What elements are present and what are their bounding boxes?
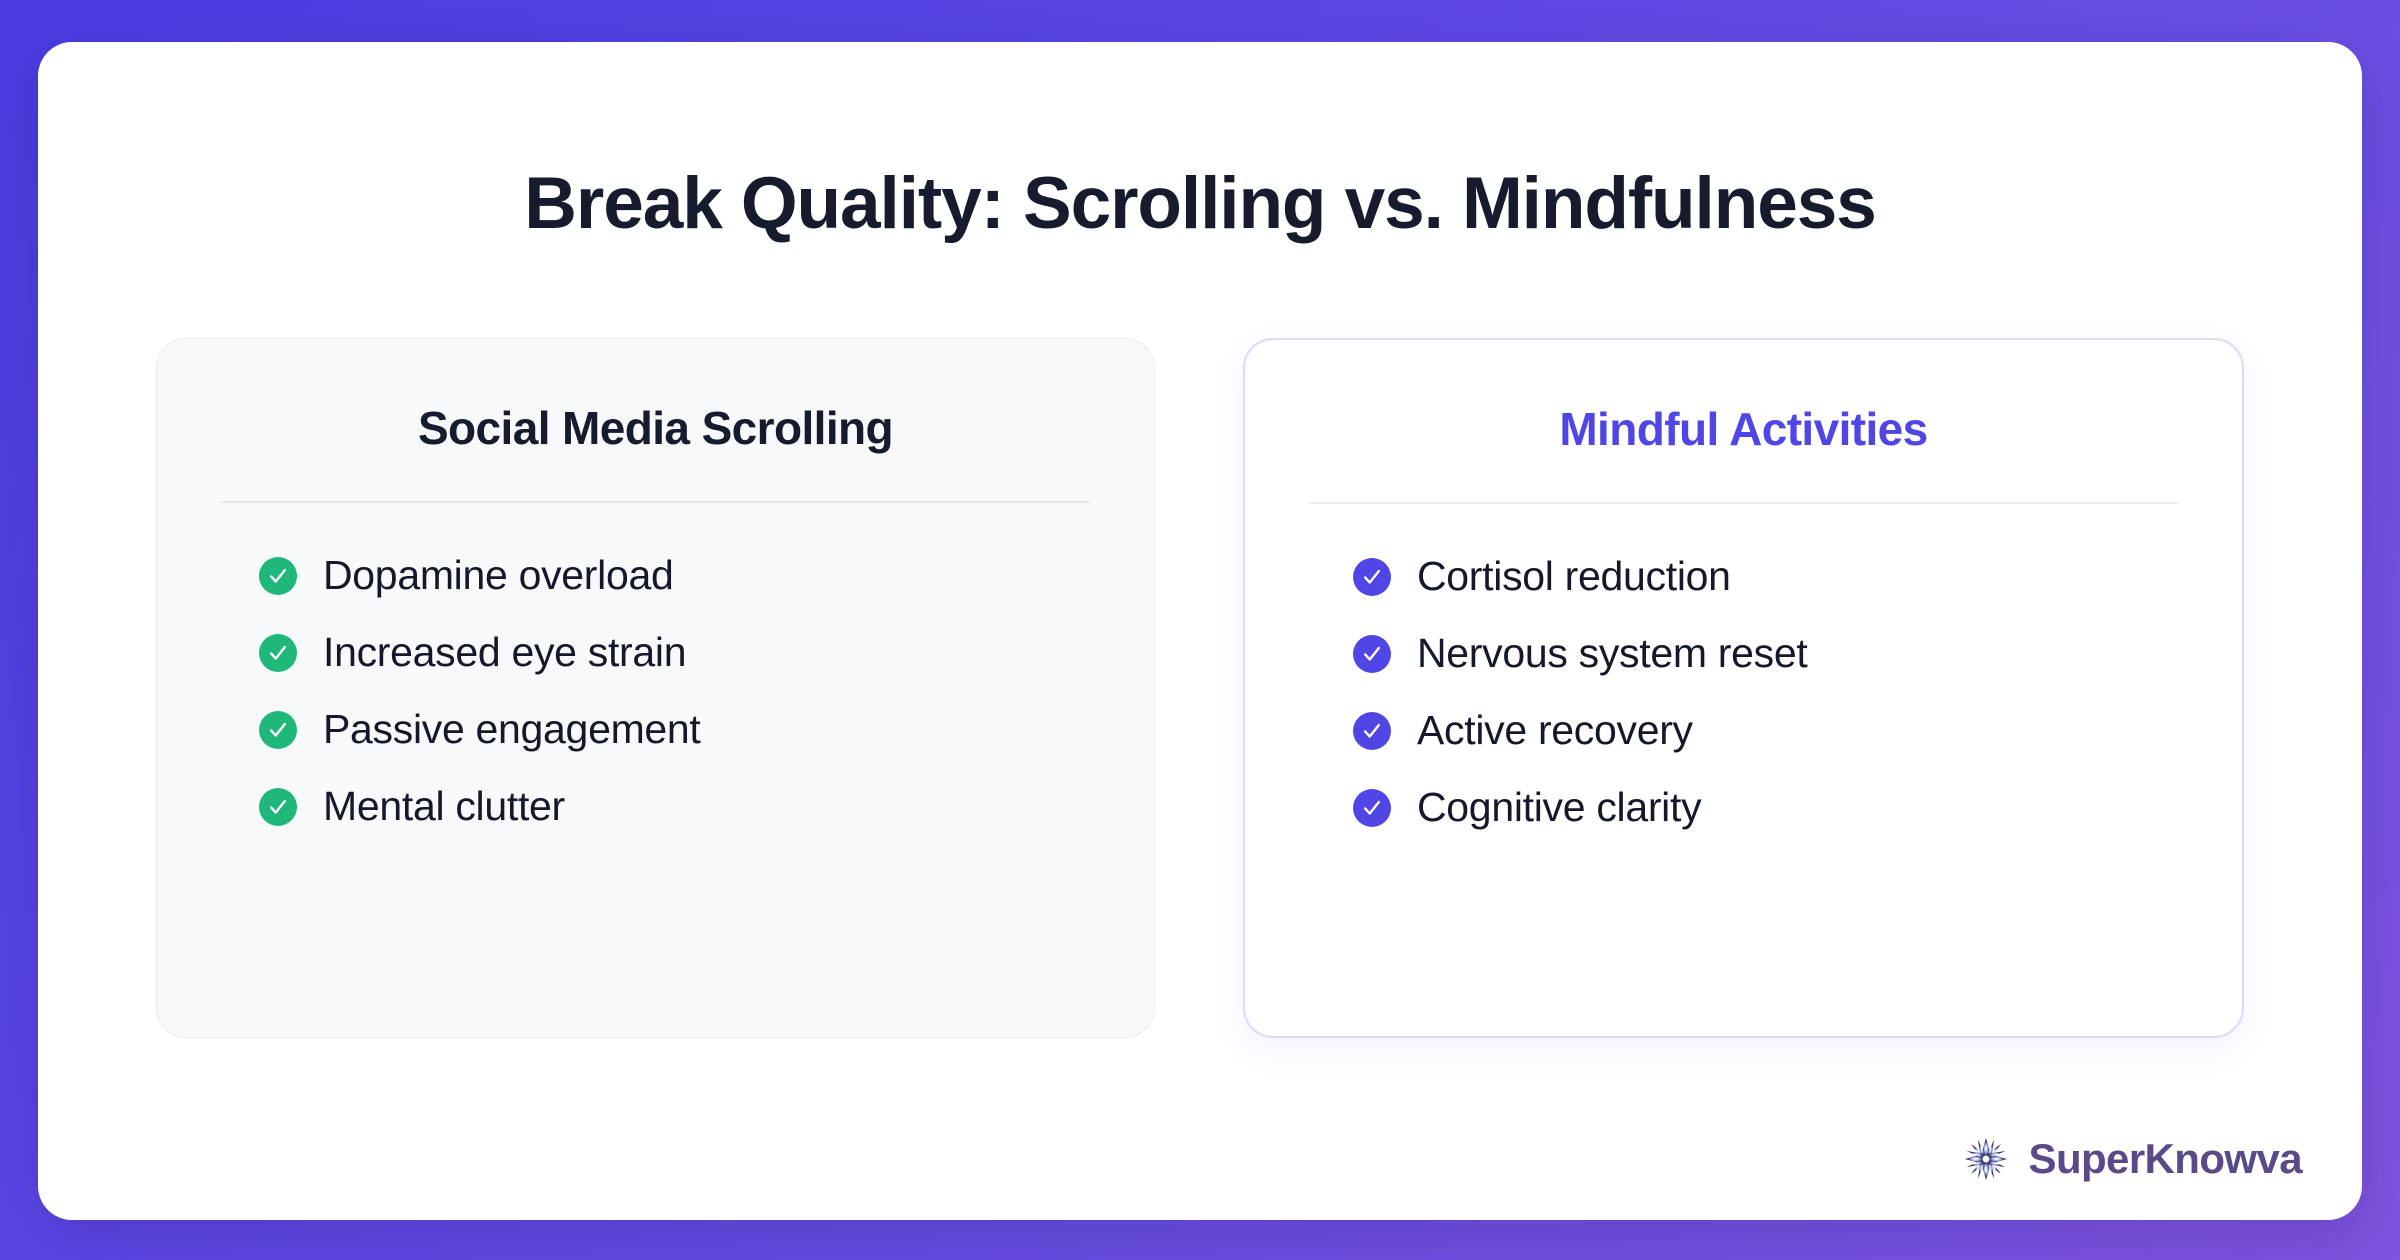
- list-item: Cognitive clarity: [1353, 785, 2178, 830]
- brand-name: SuperKnowva: [2029, 1135, 2302, 1183]
- list-item: Passive engagement: [259, 707, 1090, 752]
- list-item: Cortisol reduction: [1353, 554, 2178, 599]
- list-item-label: Dopamine overload: [323, 553, 673, 598]
- card-mindful-activities: Mindful Activities Cortisol reduction: [1243, 338, 2244, 1038]
- card-heading-left: Social Media Scrolling: [221, 401, 1090, 455]
- page-title: Break Quality: Scrolling vs. Mindfulness: [38, 162, 2362, 245]
- feature-list-right: Cortisol reduction Nervous system reset: [1309, 554, 2178, 830]
- check-icon: [259, 711, 297, 749]
- list-item: Increased eye strain: [259, 630, 1090, 675]
- check-icon: [1353, 712, 1391, 750]
- brand-logo: SuperKnowva: [1961, 1134, 2302, 1184]
- check-icon: [1353, 789, 1391, 827]
- list-item-label: Passive engagement: [323, 707, 701, 752]
- list-item-label: Increased eye strain: [323, 630, 686, 675]
- slide-canvas: Break Quality: Scrolling vs. Mindfulness…: [0, 0, 2400, 1260]
- card-divider-left: [221, 501, 1090, 503]
- list-item: Nervous system reset: [1353, 631, 2178, 676]
- list-item: Active recovery: [1353, 708, 2178, 753]
- feature-list-left: Dopamine overload Increased eye strain: [221, 553, 1090, 829]
- card-heading-right: Mindful Activities: [1309, 402, 2178, 456]
- list-item-label: Cognitive clarity: [1417, 785, 1701, 830]
- list-item-label: Active recovery: [1417, 708, 1693, 753]
- list-item: Mental clutter: [259, 784, 1090, 829]
- check-icon: [259, 788, 297, 826]
- list-item-label: Mental clutter: [323, 784, 565, 829]
- content-panel: Break Quality: Scrolling vs. Mindfulness…: [38, 42, 2362, 1220]
- check-icon: [1353, 635, 1391, 673]
- list-item: Dopamine overload: [259, 553, 1090, 598]
- check-icon: [1353, 558, 1391, 596]
- card-divider-right: [1309, 502, 2178, 504]
- list-item-label: Cortisol reduction: [1417, 554, 1731, 599]
- card-social-media-scrolling: Social Media Scrolling Dopamine overload: [156, 338, 1155, 1038]
- starburst-logo-icon: [1961, 1134, 2011, 1184]
- comparison-columns: Social Media Scrolling Dopamine overload: [156, 338, 2244, 1038]
- list-item-label: Nervous system reset: [1417, 631, 1807, 676]
- check-icon: [259, 557, 297, 595]
- check-icon: [259, 634, 297, 672]
